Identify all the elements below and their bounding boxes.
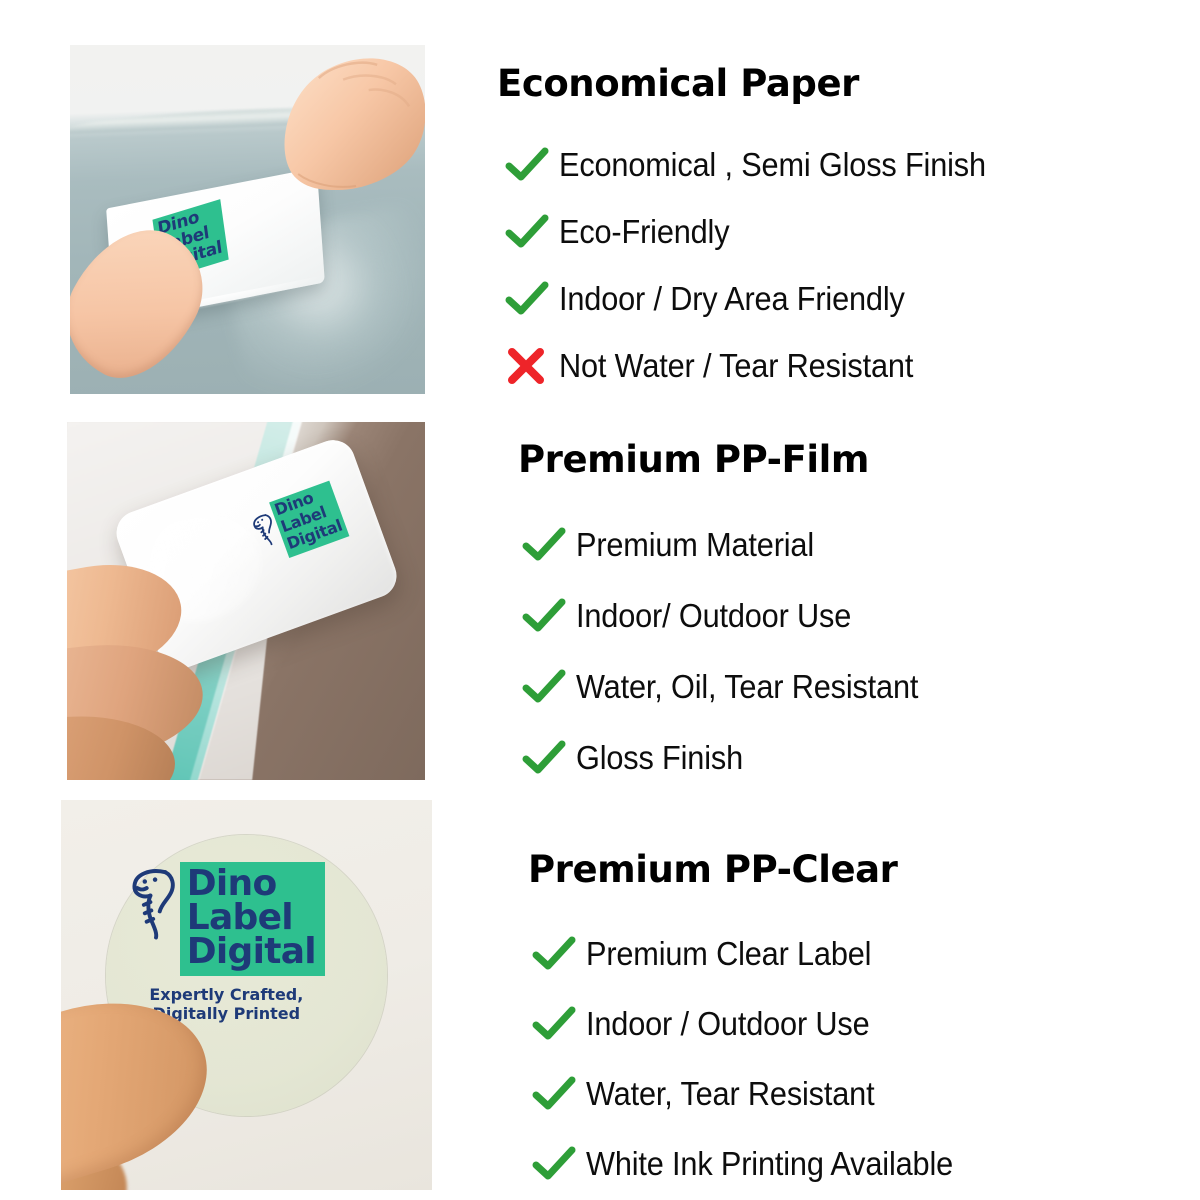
check-icon	[522, 668, 576, 706]
check-icon	[532, 1005, 586, 1043]
feature-label: Water, Tear Resistant	[586, 1075, 874, 1113]
check-icon	[522, 526, 576, 564]
section-heading: Premium PP-Clear	[528, 848, 1200, 891]
feature-item: Premium Material	[522, 509, 1200, 580]
feature-label: Not Water / Tear Resistant	[559, 347, 913, 385]
check-icon	[505, 213, 559, 251]
feature-item: Economical , Semi Gloss Finish	[505, 131, 1200, 198]
feature-label: White Ink Printing Available	[586, 1145, 953, 1183]
feature-item: Indoor / Outdoor Use	[532, 989, 1200, 1059]
section-economical-paper: Economical Paper Economical , Semi Gloss…	[0, 62, 1200, 399]
feature-item: Gloss Finish	[522, 722, 1200, 793]
feature-item: White Ink Printing Available	[532, 1129, 1200, 1199]
check-icon	[532, 935, 586, 973]
check-icon	[522, 597, 576, 635]
section-heading: Economical Paper	[497, 62, 1200, 105]
feature-label: Gloss Finish	[576, 739, 743, 777]
check-icon	[532, 1145, 586, 1183]
feature-label: Indoor / Dry Area Friendly	[559, 280, 905, 318]
feature-item: Eco-Friendly	[505, 198, 1200, 265]
check-icon	[532, 1075, 586, 1113]
section-premium-pp-clear: Premium PP-Clear Premium Clear Label Ind…	[0, 848, 1200, 1199]
feature-item: Not Water / Tear Resistant	[505, 332, 1200, 399]
feature-list: Premium Clear Label Indoor / Outdoor Use…	[532, 919, 1200, 1199]
section-premium-pp-film: Premium PP-Film Premium Material Indoor/…	[0, 438, 1200, 793]
feature-list: Premium Material Indoor/ Outdoor Use Wat…	[522, 509, 1200, 793]
check-icon	[522, 739, 576, 777]
material-comparison-page: Dino Label Digital	[0, 0, 1200, 1200]
feature-item: Water, Oil, Tear Resistant	[522, 651, 1200, 722]
feature-item: Water, Tear Resistant	[532, 1059, 1200, 1129]
feature-label: Water, Oil, Tear Resistant	[576, 668, 918, 706]
feature-label: Indoor / Outdoor Use	[586, 1005, 870, 1043]
check-icon	[505, 146, 559, 184]
feature-label: Indoor/ Outdoor Use	[576, 597, 851, 635]
feature-item: Premium Clear Label	[532, 919, 1200, 989]
feature-label: Premium Material	[576, 526, 814, 564]
feature-label: Economical , Semi Gloss Finish	[559, 146, 986, 184]
feature-label: Eco-Friendly	[559, 213, 729, 251]
feature-item: Indoor / Dry Area Friendly	[505, 265, 1200, 332]
section-heading: Premium PP-Film	[518, 438, 1200, 481]
cross-icon	[505, 346, 559, 386]
check-icon	[505, 280, 559, 318]
feature-item: Indoor/ Outdoor Use	[522, 580, 1200, 651]
feature-label: Premium Clear Label	[586, 935, 871, 973]
feature-list: Economical , Semi Gloss Finish Eco-Frien…	[505, 131, 1200, 399]
